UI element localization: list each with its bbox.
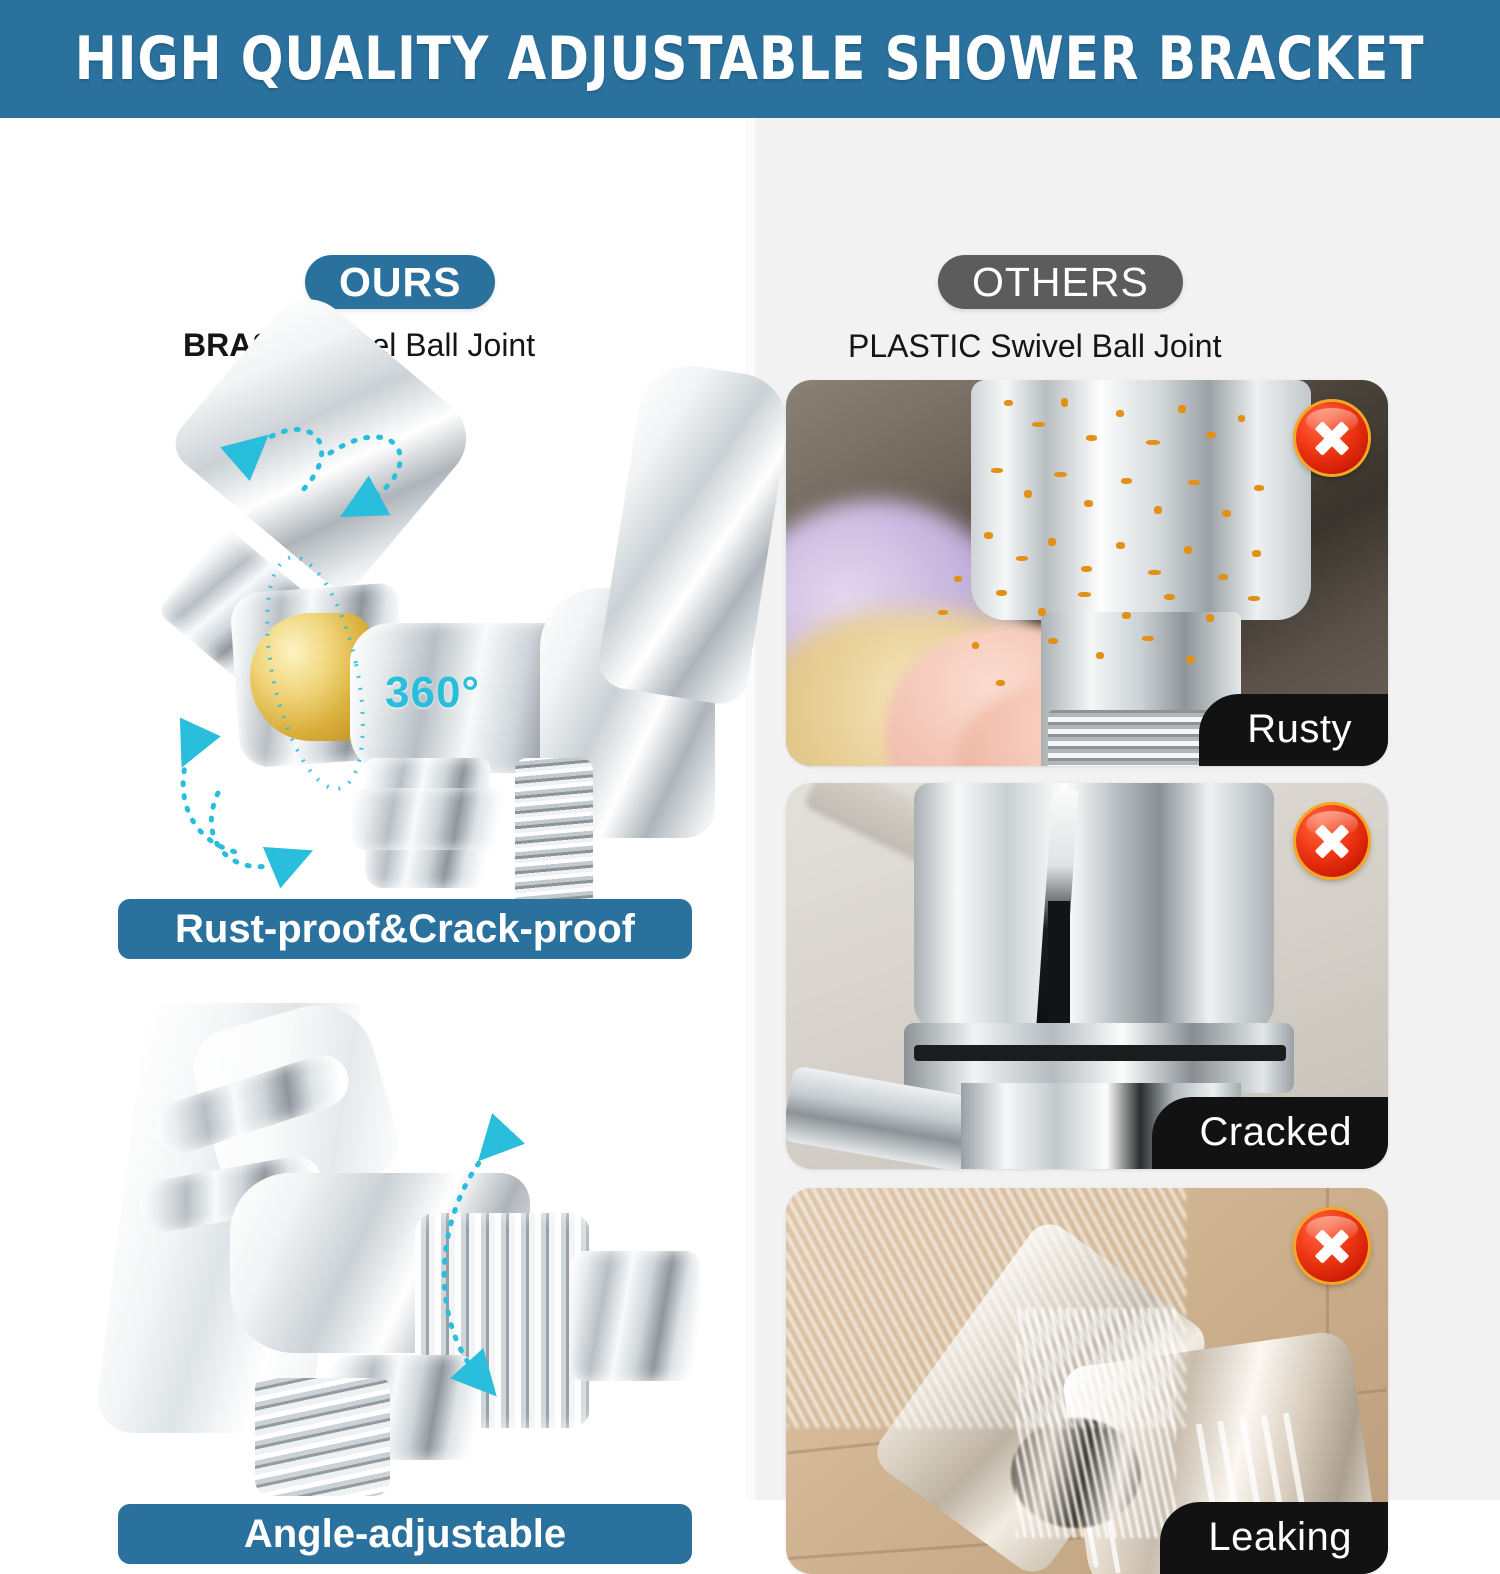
photo-tag-leaking: Leaking [1160, 1502, 1388, 1574]
photo-card-cracked: Cracked [786, 783, 1388, 1169]
page-title: HIGH QUALITY ADJUSTABLE SHOWER BRACKET [75, 24, 1425, 94]
photo-tag-cracked: Cracked [1152, 1097, 1388, 1169]
photo-card-rusty: Rusty [786, 380, 1388, 766]
others-subtitle: PLASTIC Swivel Ball Joint [848, 328, 1221, 365]
product-image-brass-swivel-joint: 360° [100, 373, 740, 918]
comparison-panels: OURS BRASS Swivel Ball Joint OTHERS PLAS… [0, 118, 1500, 1500]
x-mark-icon [1296, 402, 1368, 474]
panel-divider [745, 118, 755, 1500]
rotation-degree-label: 360° [385, 668, 480, 718]
others-subtitle-strong: PLASTIC [848, 328, 981, 364]
others-subtitle-rest: Swivel Ball Joint [981, 328, 1221, 364]
ours-badge: OURS [305, 255, 495, 309]
rotation-arrows-360 [100, 373, 740, 918]
header-banner: HIGH QUALITY ADJUSTABLE SHOWER BRACKET [0, 0, 1500, 118]
angle-adjust-arrow [100, 983, 740, 1503]
photo-tag-rusty: Rusty [1199, 694, 1388, 766]
feature-banner-angle-adjustable: Angle-adjustable [118, 1504, 692, 1564]
x-mark-icon [1296, 805, 1368, 877]
photo-card-leaking: Leaking [786, 1188, 1388, 1574]
product-image-angle-adjustable-bracket [100, 983, 740, 1503]
feature-banner-rust-crack-proof: Rust-proof&Crack-proof [118, 899, 692, 959]
x-mark-icon [1296, 1210, 1368, 1282]
others-badge: OTHERS [938, 255, 1183, 309]
